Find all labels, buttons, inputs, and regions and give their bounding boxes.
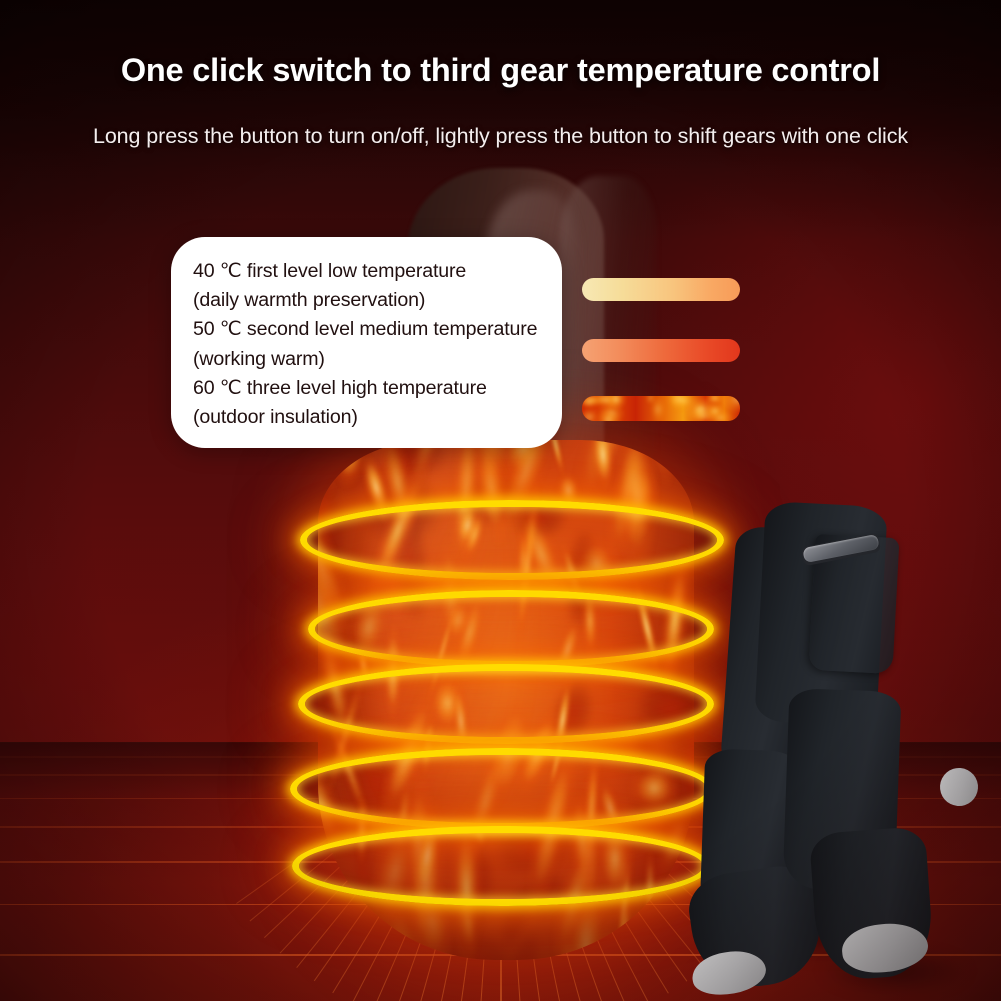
temperature-line-4: (working warm) bbox=[193, 345, 552, 374]
temperature-line-2: (daily warmth preservation) bbox=[193, 286, 552, 315]
temperature-line-3: 50 ℃ second level medium temperature bbox=[193, 315, 552, 344]
temperature-callout-card: 40 ℃ first level low temperature(daily w… bbox=[171, 237, 562, 448]
product-banner: One click switch to third gear temperatu… bbox=[0, 0, 1001, 1001]
vignette-overlay bbox=[0, 0, 1001, 1001]
temperature-line-1: 40 ℃ first level low temperature bbox=[193, 257, 552, 286]
temperature-line-5: 60 ℃ three level high temperature bbox=[193, 374, 552, 403]
page-title: One click switch to third gear temperatu… bbox=[0, 52, 1001, 89]
page-subtitle: Long press the button to turn on/off, li… bbox=[0, 124, 1001, 149]
temperature-line-6: (outdoor insulation) bbox=[193, 403, 552, 432]
